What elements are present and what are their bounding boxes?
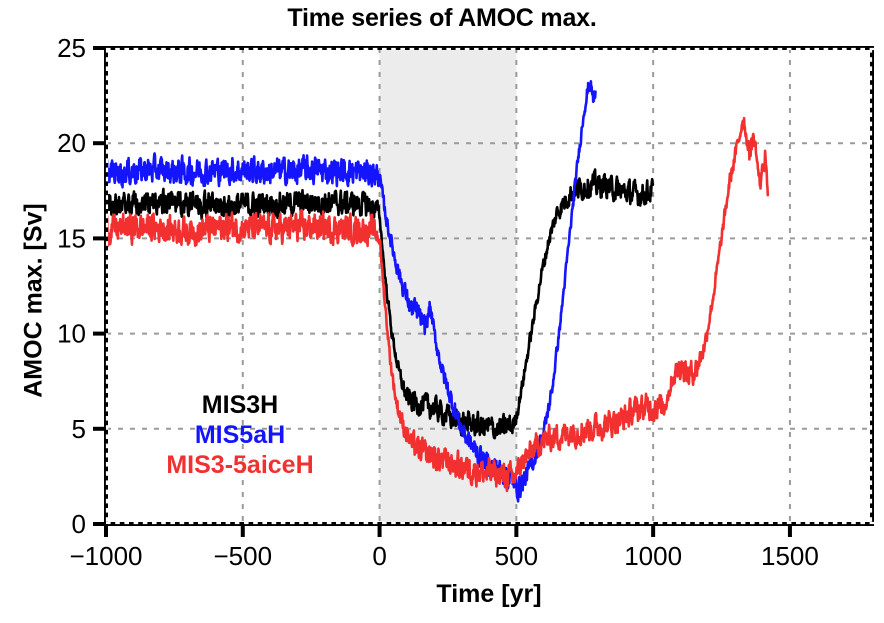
x-tick-label: 1000 [624,541,682,571]
y-tick-label: 10 [57,319,86,349]
y-tick-label: 20 [57,128,86,158]
series-line-mis5ah [106,81,596,501]
x-tick-label: −500 [213,541,272,571]
legend-label-mis5ah: MIS5aH [195,421,285,449]
legend: MIS3HMIS5aHMIS3-5aiceH [166,391,313,479]
y-tick-label: 5 [72,414,86,444]
plot-canvas: 0510152025−1000−500050010001500 MIS3HMIS… [0,0,884,623]
legend-label-mis3h: MIS3H [202,391,278,419]
y-tick-label: 25 [57,33,86,63]
x-tick-label: 500 [495,541,538,571]
x-tick-label: 1500 [761,541,819,571]
x-tick-label: −1000 [69,541,142,571]
legend-label-mis3-5aiceh: MIS3-5aiceH [166,451,313,479]
y-tick-label: 15 [57,223,86,253]
chart-figure: Time series of AMOC max. AMOC max. [Sv] … [0,0,884,623]
y-tick-label: 0 [72,509,86,539]
x-tick-label: 0 [372,541,386,571]
